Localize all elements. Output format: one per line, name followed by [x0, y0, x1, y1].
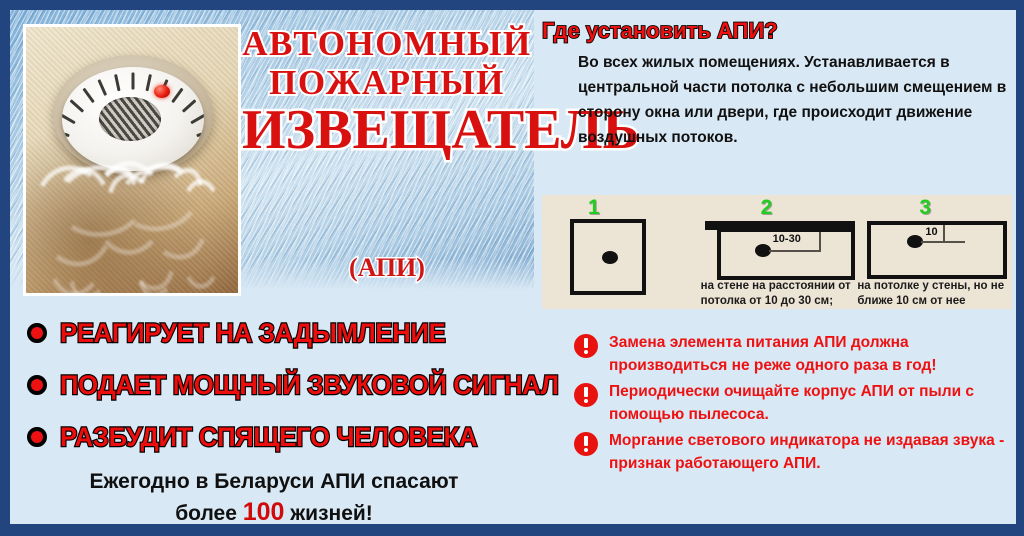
dimension-tick-3: [943, 225, 945, 243]
placement-diagram: 1 2 10-30 на стене на расстоянии от пото…: [542, 195, 1012, 309]
feature-list: РЕАГИРУЕТ НА ЗАДЫМЛЕНИЕ ПОДАЕТ МОЩНЫЙ ЗВ…: [24, 310, 534, 466]
title-line-3: ИЗВЕЩАТЕЛЬ: [242, 102, 532, 158]
diagram-panel-3: 3 10 на потолке у стены, но не ближе 10 …: [855, 195, 1012, 309]
statistic-suffix: жизней!: [284, 502, 372, 524]
diagram-number-1: 1: [588, 196, 600, 220]
list-item: РЕАГИРУЕТ НА ЗАДЫМЛЕНИЕ: [24, 310, 534, 356]
warning-item: Моргание светового индикатора не издавая…: [542, 430, 1016, 476]
bullet-dot-icon: [27, 323, 47, 343]
dimension-label-2: 10-30: [773, 233, 801, 245]
diagram-caption-2: на стене на расстоянии от потолка от 10 …: [701, 279, 854, 309]
bullet-dot-icon: [27, 427, 47, 447]
detector-grille: [99, 97, 161, 141]
statistic-number: 100: [243, 498, 285, 524]
dimension-line-2: [769, 250, 821, 252]
bullet-dot-icon: [27, 375, 47, 395]
title-line-1: АВТОНОМНЫЙ: [242, 26, 532, 61]
exclamation-icon: [574, 383, 598, 407]
poster-inner: АВТОНОМНЫЙ ПОЖАРНЫЙ ИЗВЕЩАТЕЛЬ (АПИ) РЕА…: [10, 10, 1016, 524]
diagram-caption-3: на потолке у стены, но не ближе 10 см от…: [857, 279, 1010, 309]
warning-list: Замена элемента питания АПИ должна произ…: [542, 332, 1016, 479]
title-line-2: ПОЖАРНЫЙ: [242, 65, 532, 100]
warning-text: Моргание светового индикатора не издавая…: [609, 430, 1016, 476]
diagram-panel-2: 2 10-30 на стене на расстоянии от потолк…: [699, 195, 856, 309]
feature-label: РЕАГИРУЕТ НА ЗАДЫМЛЕНИЕ: [60, 318, 445, 349]
warning-item: Периодически очищайте корпус АПИ от пыли…: [542, 381, 1016, 427]
list-item: ПОДАЕТ МОЩНЫЙ ЗВУКОВОЙ СИГНАЛ: [24, 362, 534, 408]
right-column: Где установить АПИ? Во всех жилых помеще…: [534, 10, 1016, 524]
section-paragraph: Во всех жилых помещениях. Устанавливаетс…: [578, 50, 1016, 150]
feature-label: РАЗБУДИТ СПЯЩЕГО ЧЕЛОВЕКА: [60, 422, 477, 453]
poster-frame: АВТОНОМНЫЙ ПОЖАРНЫЙ ИЗВЕЩАТЕЛЬ (АПИ) РЕА…: [0, 0, 1024, 536]
title-abbreviation: (АПИ): [242, 253, 532, 283]
detector-dot-icon: [602, 251, 618, 264]
section-heading: Где установить АПИ?: [542, 18, 778, 44]
dimension-label-3: 10: [925, 226, 937, 238]
statistic-footer: Ежегодно в Беларуси АПИ спасают более 10…: [24, 468, 524, 524]
diagram-panel-1: 1: [542, 195, 699, 309]
list-item: РАЗБУДИТ СПЯЩЕГО ЧЕЛОВЕКА: [24, 414, 534, 460]
diagram-number-2: 2: [761, 196, 773, 220]
dimension-tick-2: [819, 232, 821, 252]
warning-text: Замена элемента питания АПИ должна произ…: [609, 332, 1016, 378]
warning-item: Замена элемента питания АПИ должна произ…: [542, 332, 1016, 378]
warning-text: Периодически очищайте корпус АПИ от пыли…: [609, 381, 1016, 427]
exclamation-icon: [574, 334, 598, 358]
exclamation-icon: [574, 432, 598, 456]
smoke-detector-photo: [23, 24, 241, 296]
detector-led-icon: [154, 85, 170, 98]
page-title: АВТОНОМНЫЙ ПОЖАРНЫЙ ИЗВЕЩАТЕЛЬ: [242, 26, 532, 158]
diagram-number-3: 3: [919, 196, 931, 220]
left-column: АВТОНОМНЫЙ ПОЖАРНЫЙ ИЗВЕЩАТЕЛЬ (АПИ) РЕА…: [10, 10, 534, 524]
smoke-wisps: [26, 143, 238, 293]
feature-label: ПОДАЕТ МОЩНЫЙ ЗВУКОВОЙ СИГНАЛ: [60, 370, 559, 401]
statistic-line-1: Ежегодно в Беларуси АПИ спасают: [90, 470, 459, 493]
statistic-prefix: более: [175, 502, 243, 524]
